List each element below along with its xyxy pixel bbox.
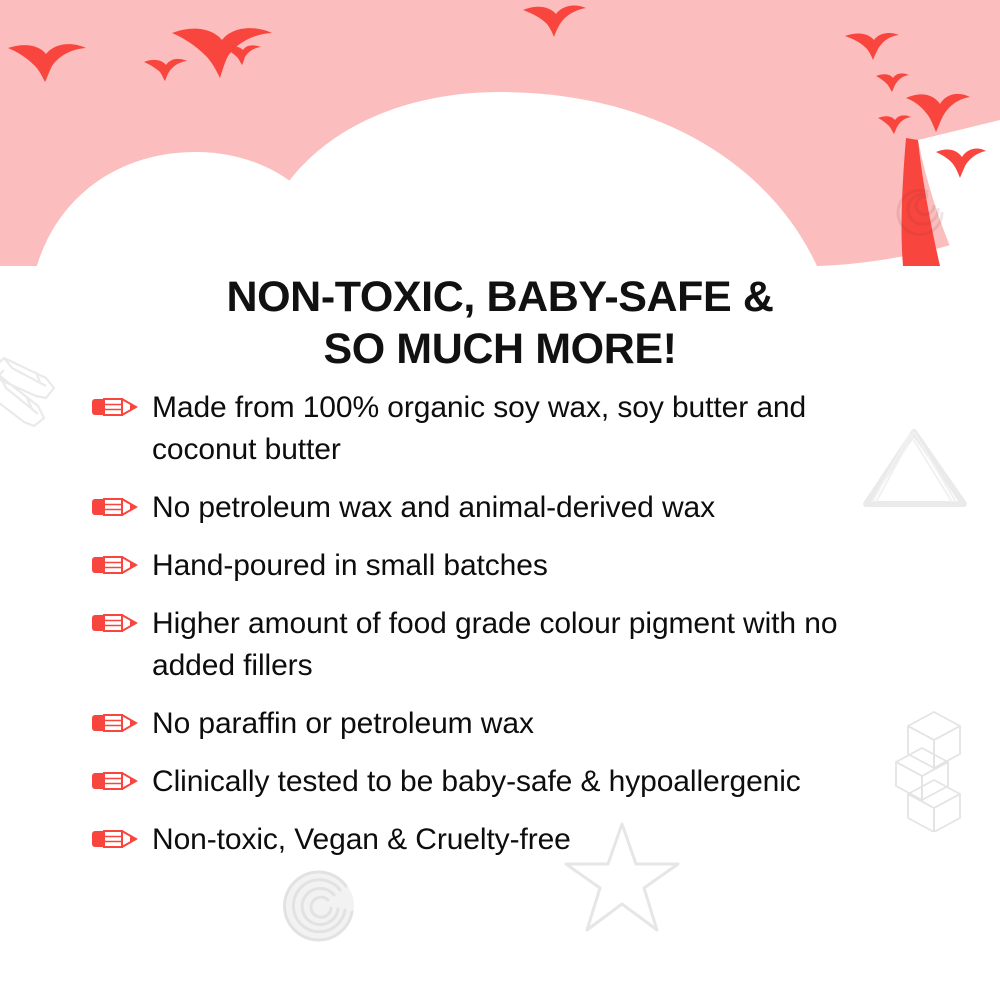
benefit-item: No paraffin or petroleum wax bbox=[92, 703, 922, 745]
pencil-icon bbox=[92, 387, 152, 418]
swirl-icon bbox=[268, 856, 368, 956]
pencil-icon bbox=[92, 545, 152, 576]
benefit-item-label: Made from 100% organic soy wax, soy butt… bbox=[152, 387, 852, 471]
pencil-icon bbox=[92, 703, 152, 734]
benefit-item: Clinically tested to be baby-safe & hypo… bbox=[92, 761, 922, 803]
benefit-item: No petroleum wax and animal-derived wax bbox=[92, 487, 922, 529]
benefit-item-label: No petroleum wax and animal-derived wax bbox=[152, 487, 852, 529]
benefits-list: Made from 100% organic soy wax, soy butt… bbox=[92, 387, 922, 861]
poster-canvas: NON-TOXIC, BABY-SAFE & SO MUCH MORE! Mad… bbox=[0, 0, 1000, 1000]
benefit-item: Higher amount of food grade colour pigme… bbox=[92, 603, 922, 687]
benefit-item-label: Higher amount of food grade colour pigme… bbox=[152, 603, 852, 687]
benefit-item: Made from 100% organic soy wax, soy butt… bbox=[92, 387, 922, 471]
benefit-item: Non-toxic, Vegan & Cruelty-free bbox=[92, 819, 922, 861]
headline-line-1: NON-TOXIC, BABY-SAFE & bbox=[0, 271, 1000, 323]
benefit-item-label: Clinically tested to be baby-safe & hypo… bbox=[152, 761, 852, 803]
page-title: NON-TOXIC, BABY-SAFE & SO MUCH MORE! bbox=[0, 271, 1000, 375]
pencil-icon bbox=[92, 603, 152, 634]
headline-line-2: SO MUCH MORE! bbox=[0, 323, 1000, 375]
pencil-icon bbox=[92, 819, 152, 850]
top-banner bbox=[0, 0, 1000, 300]
pencil-icon bbox=[92, 487, 152, 518]
benefit-item-label: Non-toxic, Vegan & Cruelty-free bbox=[152, 819, 852, 861]
benefit-item-label: Hand-poured in small batches bbox=[152, 545, 852, 587]
benefit-item-label: No paraffin or petroleum wax bbox=[152, 703, 852, 745]
pencil-icon bbox=[92, 761, 152, 792]
benefit-item: Hand-poured in small batches bbox=[92, 545, 922, 587]
